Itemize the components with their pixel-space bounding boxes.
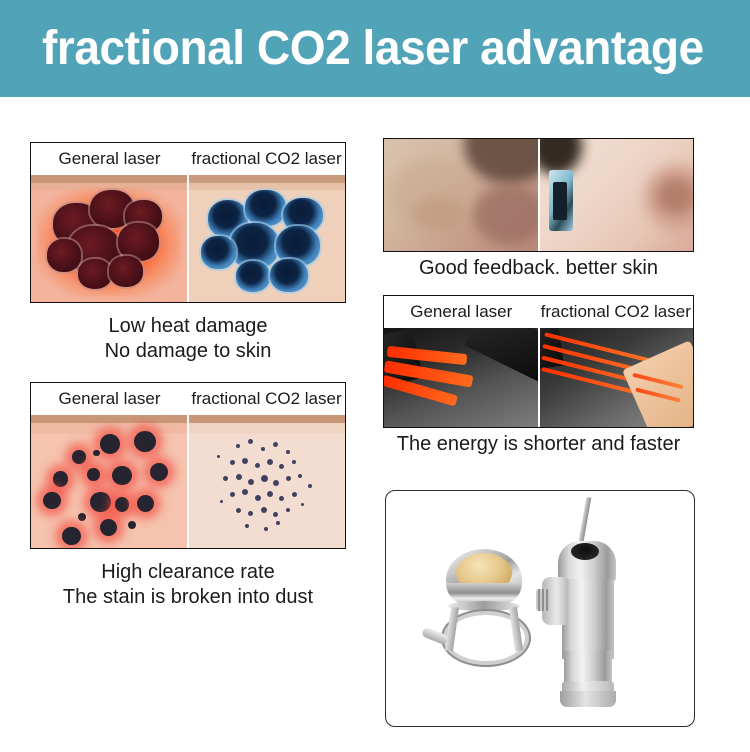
- image-face-before: [384, 139, 540, 251]
- label-general-laser: General laser: [384, 302, 539, 322]
- caption-good-feedback: Good feedback. better skin: [383, 256, 694, 281]
- panel-product-photo: [385, 490, 695, 727]
- page-title: fractional CO2 laser advantage: [42, 21, 704, 76]
- comparison-images: [31, 415, 345, 548]
- panel-energy-shorter-faster: General laser fractional CO2 laser: [383, 295, 694, 428]
- image-general-laser-cells: [31, 175, 189, 302]
- caption-line: Low heat damage: [30, 314, 346, 339]
- label-fractional-co2-laser: fractional CO2 laser: [539, 302, 694, 322]
- label-fractional-co2-laser: fractional CO2 laser: [188, 149, 345, 169]
- image-fractional-co2-cells: [189, 175, 345, 302]
- comparison-labels: General laser fractional CO2 laser: [31, 383, 345, 415]
- comparison-images: [384, 328, 693, 427]
- image-general-laser-spots: [31, 415, 189, 548]
- caption-line: The stain is broken into dust: [20, 585, 356, 610]
- label-general-laser: General laser: [31, 149, 188, 169]
- label-fractional-co2-laser: fractional CO2 laser: [188, 389, 345, 409]
- caption-line: High clearance rate: [20, 560, 356, 585]
- caption-line: No damage to skin: [30, 339, 346, 364]
- caption-high-clearance-rate: High clearance rate The stain is broken …: [20, 560, 356, 610]
- comparison-labels: General laser fractional CO2 laser: [384, 296, 693, 328]
- comparison-labels: General laser fractional CO2 laser: [31, 143, 345, 175]
- image-general-laser-beams: [384, 328, 540, 427]
- caption-low-heat-damage: Low heat damage No damage to skin: [30, 314, 346, 364]
- comparison-images: [384, 139, 693, 251]
- image-fractional-co2-dust: [189, 415, 345, 548]
- header-banner: fractional CO2 laser advantage: [0, 0, 750, 97]
- label-general-laser: General laser: [31, 389, 188, 409]
- panel-high-clearance-rate: General laser fractional CO2 laser: [30, 382, 346, 549]
- panel-good-feedback: [383, 138, 694, 252]
- caption-line: Good feedback. better skin: [383, 256, 694, 281]
- image-fractional-co2-beams: [540, 328, 694, 427]
- caption-line: The energy is shorter and faster: [375, 432, 702, 457]
- comparison-images: [31, 175, 345, 302]
- image-face-after: [540, 139, 694, 251]
- caption-energy-shorter-faster: The energy is shorter and faster: [375, 432, 702, 457]
- panel-low-heat-damage: General laser fractional CO2 laser: [30, 142, 346, 303]
